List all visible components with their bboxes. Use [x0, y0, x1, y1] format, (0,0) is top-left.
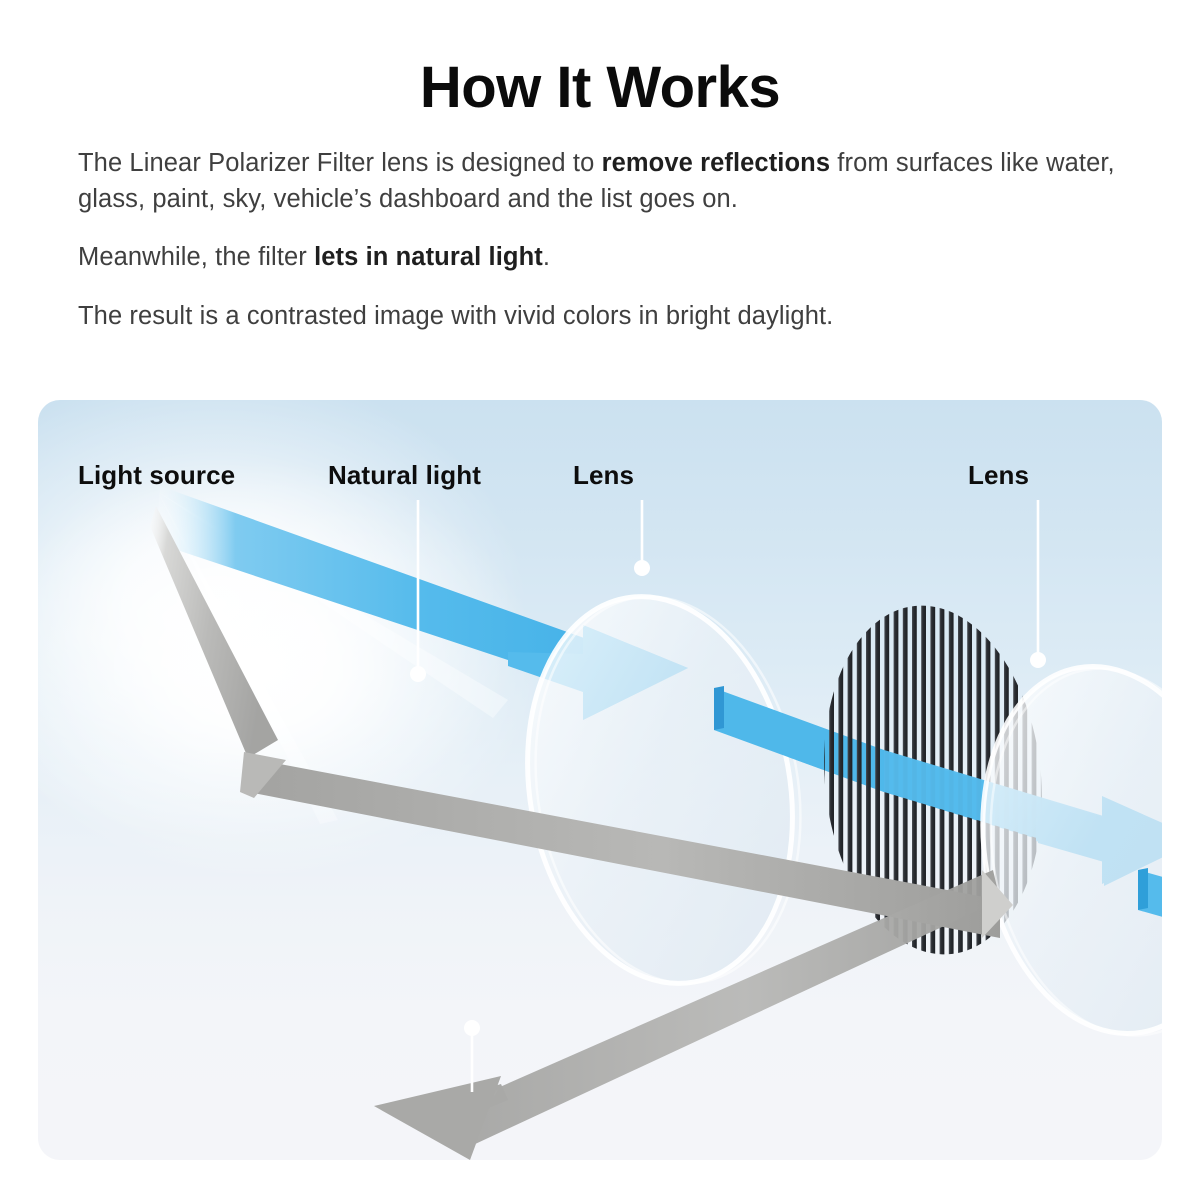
paragraph-1: The Linear Polarizer Filter lens is desi… — [78, 145, 1138, 217]
paragraph-1-emphasis: remove reflections — [602, 149, 831, 177]
label-light-source: Light source — [78, 460, 235, 491]
leader-dot-natural-light — [410, 666, 426, 682]
label-lens-back: Lens — [968, 460, 1029, 491]
paragraph-2-text-after: . — [543, 243, 550, 271]
paragraph-2-emphasis: lets in natural light — [314, 243, 543, 271]
leader-dot-lens-back — [1030, 652, 1046, 668]
paragraph-2: Meanwhile, the filter lets in natural li… — [78, 239, 1138, 275]
paragraph-3: The result is a contrasted image with vi… — [78, 298, 1138, 334]
paragraph-2-text-before: Meanwhile, the filter — [78, 243, 314, 271]
label-lens-front: Lens — [573, 460, 634, 491]
intro-copy-block: The Linear Polarizer Filter lens is desi… — [0, 119, 1200, 334]
how-it-works-diagram: Light source Natural light Lens Lens Lig… — [38, 400, 1162, 1160]
paragraph-3-text: The result is a contrasted image with vi… — [78, 302, 833, 330]
page-title: How It Works — [0, 0, 1200, 119]
paragraph-1-text-before: The Linear Polarizer Filter lens is desi… — [78, 149, 602, 177]
label-natural-light: Natural light — [328, 460, 481, 491]
leader-dot-light-reflection — [464, 1020, 480, 1036]
leader-dot-lens-front — [634, 560, 650, 576]
diagram-illustration — [38, 400, 1162, 1160]
